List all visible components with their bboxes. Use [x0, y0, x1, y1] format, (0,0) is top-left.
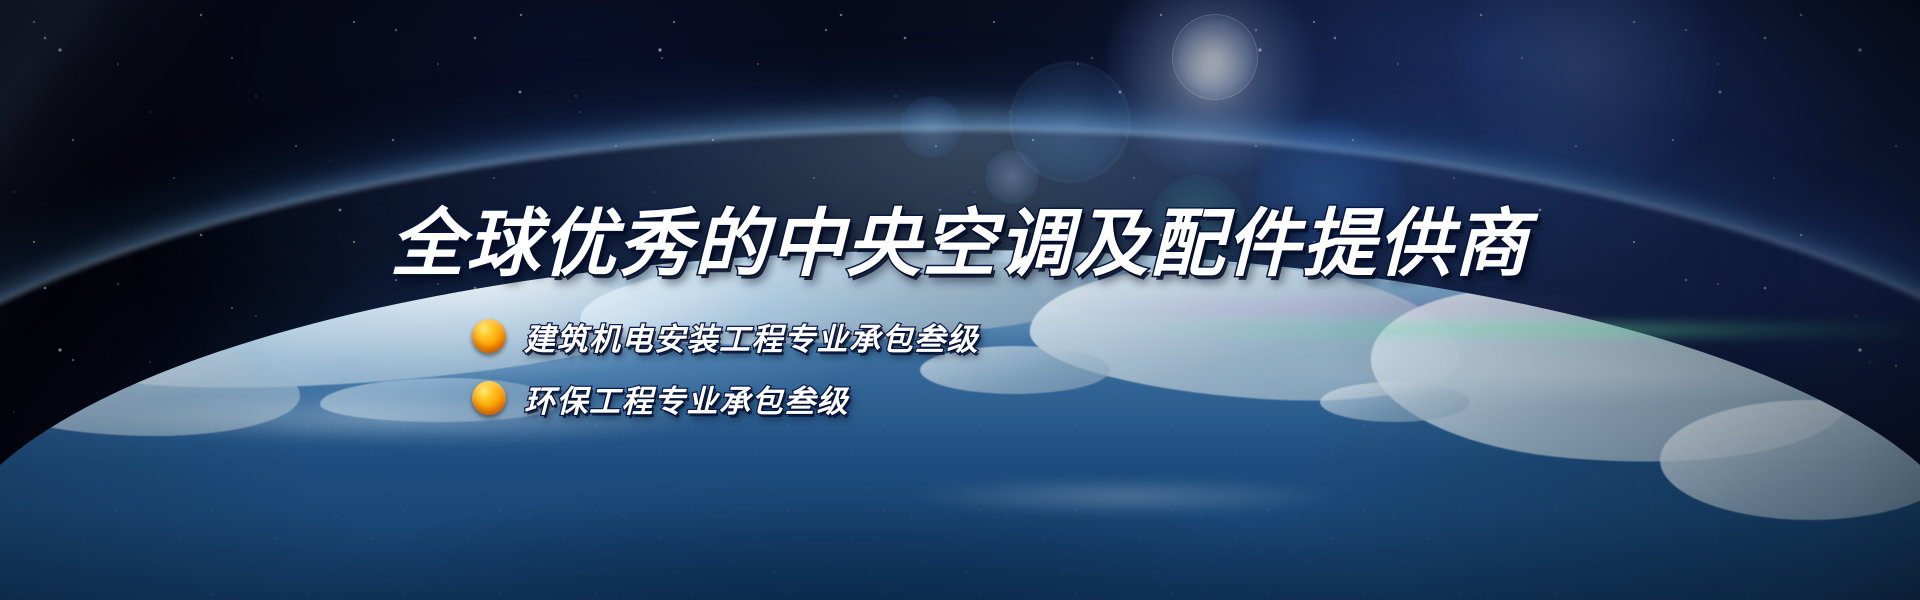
- orange-sphere-bullet-icon: [472, 381, 506, 415]
- qualification-item: 环保工程专业承包叁级: [472, 370, 1372, 426]
- hero-banner: 全球优秀的中央空调及配件提供商 建筑机电安装工程专业承包叁级 环保工程专业承包叁…: [0, 0, 1920, 600]
- qualification-item: 建筑机电安装工程专业承包叁级: [472, 308, 1372, 364]
- banner-copy: 全球优秀的中央空调及配件提供商 建筑机电安装工程专业承包叁级 环保工程专业承包叁…: [0, 0, 1920, 600]
- orange-sphere-bullet-icon: [472, 319, 506, 353]
- qualification-label: 环保工程专业承包叁级: [524, 376, 849, 421]
- qualification-label: 建筑机电安装工程专业承包叁级: [524, 314, 979, 359]
- banner-headline: 全球优秀的中央空调及配件提供商: [0, 203, 1920, 284]
- qualification-list: 建筑机电安装工程专业承包叁级 环保工程专业承包叁级: [472, 308, 1372, 432]
